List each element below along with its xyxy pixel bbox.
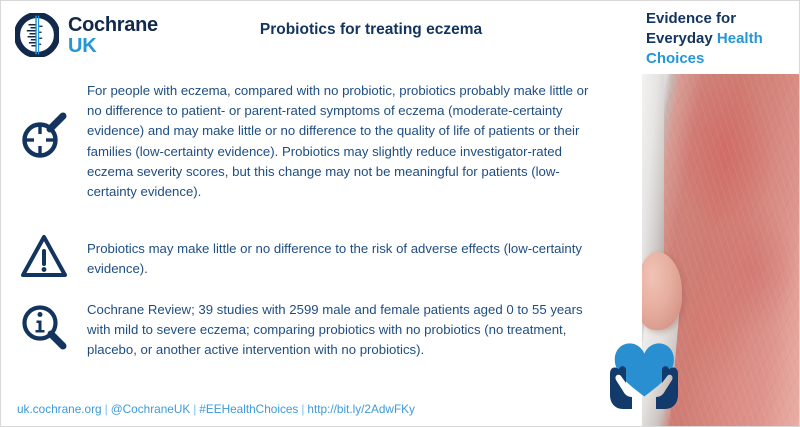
findings-paragraph: For people with eczema, compared with no… [87,81,595,202]
logo-name: Cochrane [68,15,158,35]
review-details-paragraph: Cochrane Review; 39 studies with 2599 ma… [87,300,595,361]
target-magnifier-icon [13,109,75,163]
footer-links: uk.cochrane.org|@CochraneUK|#EEHealthCho… [17,402,415,416]
warning-triangle-icon [13,233,75,279]
footer-hashtag[interactable]: #EEHealthChoices [199,402,298,416]
campaign-heading: Evidence for Everyday Health Choices [642,9,800,69]
logo-unit: UK [68,36,158,56]
infographic-canvas: Cochrane UK Probiotics for treating ecze… [0,0,800,427]
campaign-heading-health: Health [717,30,763,47]
cochrane-logo-icon [15,13,59,57]
cochrane-uk-logo: Cochrane UK [15,13,158,57]
footer-website[interactable]: uk.cochrane.org [17,402,102,416]
campaign-heading-everyday: Everyday [646,30,717,47]
campaign-heading-line1: Evidence for [646,9,800,29]
heart-in-hands-icon [601,327,687,413]
logo-wordmark: Cochrane UK [68,15,158,56]
footer-short-link[interactable]: http://bit.ly/2AdwFKy [307,402,415,416]
adverse-effects-paragraph: Probiotics may make little or no differe… [87,239,595,279]
footer-separator-2: | [190,402,199,416]
info-magnifier-icon [13,301,75,353]
campaign-heading-choices: Choices [646,49,800,69]
footer-twitter-handle[interactable]: @CochraneUK [111,402,191,416]
footer-separator-1: | [102,402,111,416]
left-content-panel: Cochrane UK Probiotics for treating ecze… [1,1,642,427]
page-title: Probiotics for treating eczema [161,21,581,39]
campaign-heading-line2: Everyday Health [646,29,800,49]
